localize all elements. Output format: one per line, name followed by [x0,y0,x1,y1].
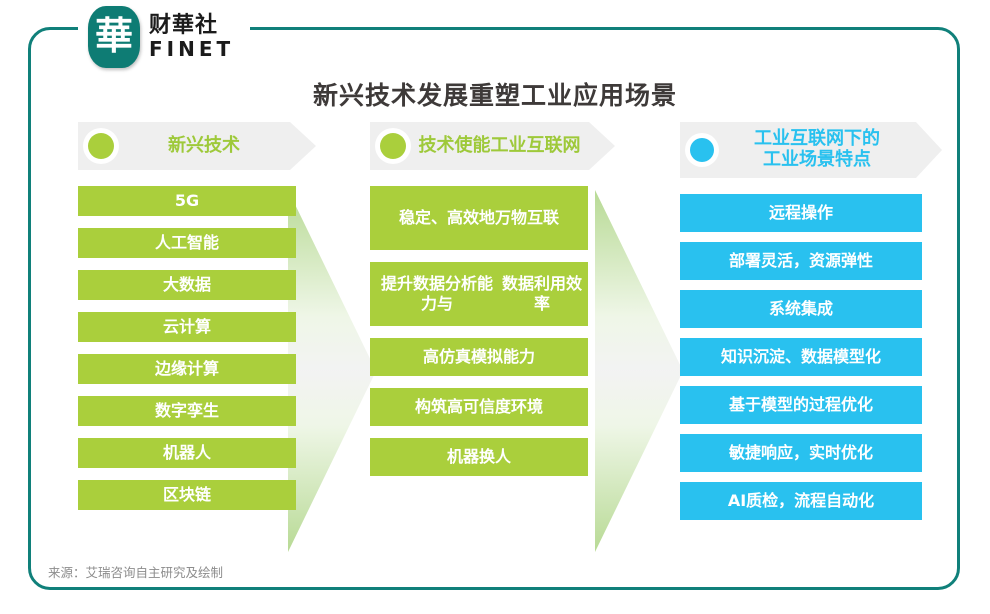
column-2-items: 稳定、高效地万物互联 提升数据分析能力与数据利用效率 高仿真模拟能力 构筑高可信… [370,186,588,488]
brand-logo-text: 财華社 FINET [149,15,234,59]
finet-logo-icon: 華 [88,6,140,68]
column-1-header: 新兴技术 [78,122,316,170]
list-item[interactable]: 构筑高可信度环境 [370,388,588,426]
list-item[interactable]: 远程操作 [680,194,922,232]
column-3-header-label: 工业互联网下的 工业场景特点 [714,129,942,170]
infographic-page: { "brand": { "mark_char": "華", "name_cn"… [0,0,990,614]
column-emerging-technology: 新兴技术 5G 人工智能 大数据 云计算 边缘计算 数字孪生 机器人 区块链 [78,122,296,522]
list-item[interactable]: 人工智能 [78,228,296,258]
list-item[interactable]: 机器换人 [370,438,588,476]
source-note: 来源：艾瑞咨询自主研究及绘制 [48,562,223,581]
column-3-items: 远程操作 部署灵活，资源弹性 系统集成 知识沉淀、数据模型化 基于模型的过程优化… [680,194,922,530]
flow-arrow-2-icon [595,190,683,552]
column-industrial-scenario-features: 工业互联网下的 工业场景特点 远程操作 部署灵活，资源弹性 系统集成 知识沉淀、… [680,122,922,530]
list-item[interactable]: 大数据 [78,270,296,300]
column-1-items: 5G 人工智能 大数据 云计算 边缘计算 数字孪生 机器人 区块链 [78,186,296,522]
column-3-header: 工业互联网下的 工业场景特点 [680,122,942,178]
diagram-board: 新兴技术 5G 人工智能 大数据 云计算 边缘计算 数字孪生 机器人 区块链 技… [60,122,940,552]
list-item[interactable]: 基于模型的过程优化 [680,386,922,424]
page-title: 新兴技术发展重塑工业应用场景 [0,76,990,112]
brand-name-cn: 财華社 [149,15,234,37]
column-1-header-label: 新兴技术 [114,136,316,157]
list-item[interactable]: 数字孪生 [78,396,296,426]
list-item[interactable]: 边缘计算 [78,354,296,384]
list-item[interactable]: AI质检，流程自动化 [680,482,922,520]
column-2-header-label: 技术使能工业互联网 [406,136,615,157]
bullet-dot-icon [380,133,406,159]
list-item[interactable]: 敏捷响应，实时优化 [680,434,922,472]
column-3-header-line1: 工业互联网下的 [714,129,920,150]
list-item[interactable]: 提升数据分析能力与数据利用效率 [370,262,588,326]
column-2-header: 技术使能工业互联网 [370,122,615,170]
list-item[interactable]: 云计算 [78,312,296,342]
list-item[interactable]: 区块链 [78,480,296,510]
list-item[interactable]: 系统集成 [680,290,922,328]
list-item[interactable]: 5G [78,186,296,216]
column-3-header-line2: 工业场景特点 [714,150,920,171]
logo-mark-char: 華 [95,17,133,55]
list-item[interactable]: 稳定、高效地万物互联 [370,186,588,250]
brand-name-en: FINET [149,39,234,59]
bullet-dot-icon [88,133,114,159]
bullet-dot-icon [690,138,714,162]
list-item[interactable]: 高仿真模拟能力 [370,338,588,376]
list-item[interactable]: 部署灵活，资源弹性 [680,242,922,280]
list-item[interactable]: 知识沉淀、数据模型化 [680,338,922,376]
brand-logo: 華 财華社 FINET [88,6,234,68]
column-tech-enabled-industrial-internet: 技术使能工业互联网 稳定、高效地万物互联 提升数据分析能力与数据利用效率 高仿真… [370,122,588,488]
flow-arrow-1-icon [288,190,376,552]
list-item[interactable]: 机器人 [78,438,296,468]
